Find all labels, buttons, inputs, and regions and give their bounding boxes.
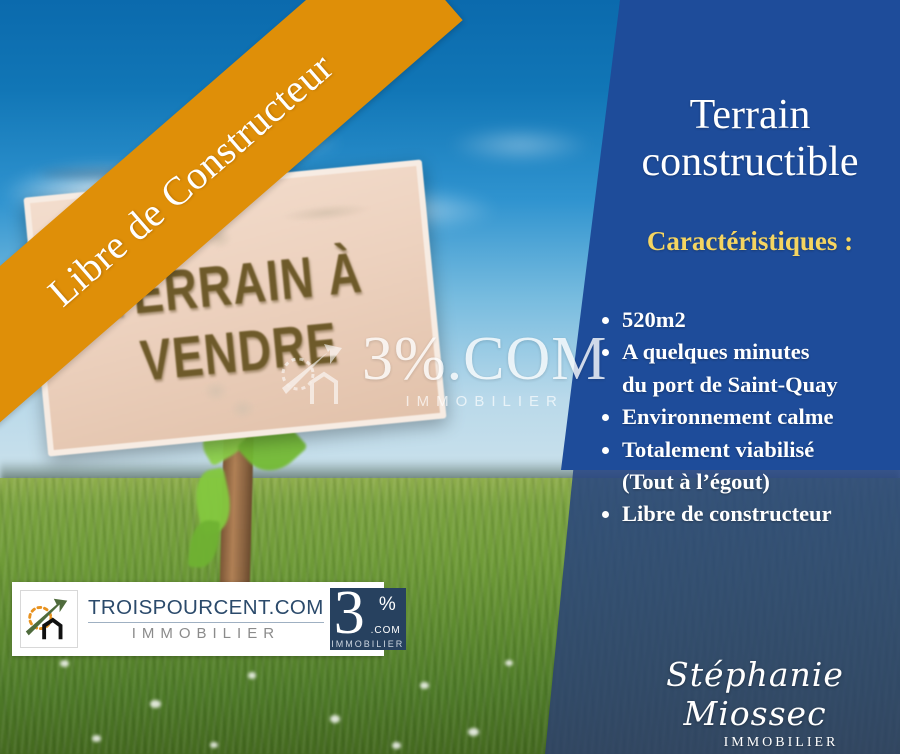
cloud	[420, 120, 620, 170]
badge-percent: %	[379, 594, 396, 616]
agency-logo-bar[interactable]: TROISPOURCENT.COM IMMOBILIER 3 % .COM IM…	[12, 582, 384, 656]
features-list: 520m2A quelques minutesdu port de Saint-…	[598, 305, 898, 532]
divider	[88, 622, 324, 623]
feature-item: Totalement viabilisé	[598, 435, 898, 465]
features-heading: Caractéristiques :	[600, 226, 900, 257]
three-percent-badge: 3 % .COM IMMOBILIER	[330, 588, 406, 650]
clover-flower	[468, 728, 479, 736]
agent-name: Stéphanie Miossec	[620, 655, 890, 733]
clover-flower	[420, 682, 429, 689]
feature-item: (Tout à l’égout)	[598, 467, 898, 497]
feature-item: 520m2	[598, 305, 898, 335]
badge-domain: .COM	[371, 625, 401, 636]
agency-wordmark: TROISPOURCENT.COM IMMOBILIER	[78, 596, 330, 642]
agency-name: TROISPOURCENT.COM	[88, 596, 324, 620]
clover-flower	[60, 660, 69, 667]
clover-flower	[505, 660, 513, 666]
clover-flower	[210, 742, 218, 748]
feature-item: Environnement calme	[598, 402, 898, 432]
clover-flower	[150, 700, 161, 708]
clover-flower	[92, 735, 101, 742]
headline-line-2: constructible	[600, 139, 900, 186]
clover-flower	[330, 715, 340, 723]
feature-item: Libre de constructeur	[598, 499, 898, 529]
headline-line-1: Terrain	[600, 92, 900, 139]
clover-flower	[248, 672, 256, 679]
feature-item: du port de Saint-Quay	[598, 370, 898, 400]
agent-signature: Stéphanie Miossec IMMOBILIER	[620, 655, 890, 751]
feature-item: A quelques minutes	[598, 337, 898, 367]
agency-tagline: IMMOBILIER	[88, 625, 324, 642]
clover-flower	[392, 742, 401, 749]
real-estate-ad: TERRAIN À VENDRE 3%.COM IMMOBILIER Libre…	[0, 0, 900, 754]
badge-digit: 3	[334, 588, 365, 644]
agent-role: IMMOBILIER	[672, 735, 890, 751]
sun-arrow-house-icon	[20, 590, 78, 648]
badge-caption: IMMOBILIER	[330, 639, 406, 649]
page-title: Terrain constructible	[600, 92, 900, 186]
